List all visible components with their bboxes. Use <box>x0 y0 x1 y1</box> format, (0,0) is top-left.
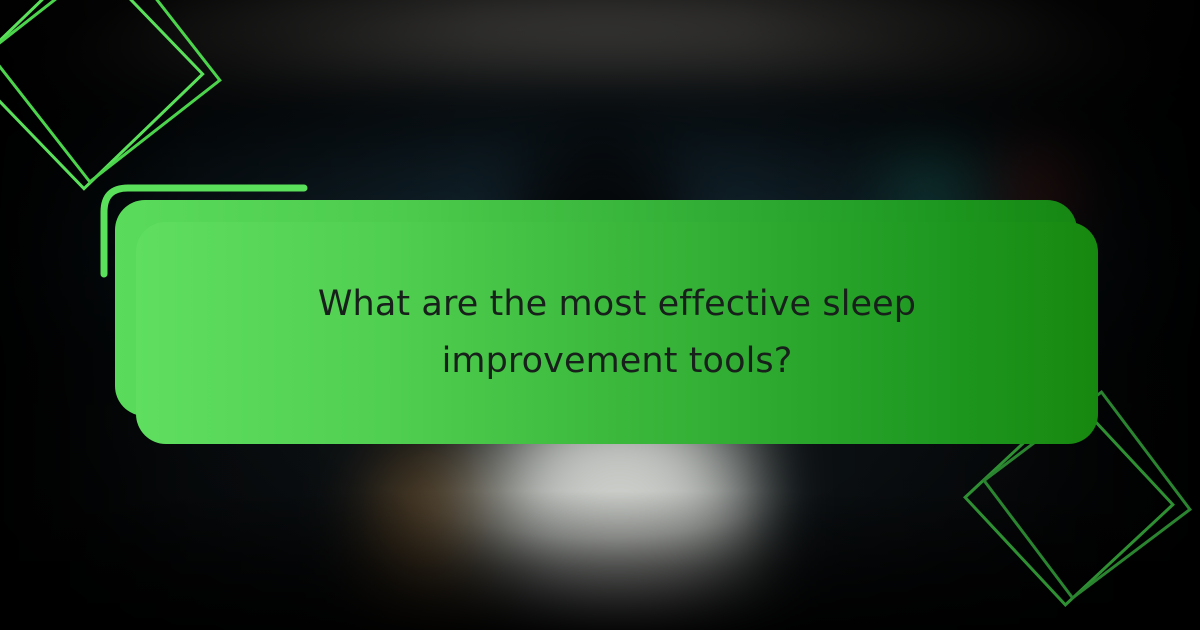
background-bottom-shade <box>0 491 1200 630</box>
slide-canvas: What are the most effective sleep improv… <box>0 0 1200 630</box>
question-title: What are the most effective sleep improv… <box>297 276 937 389</box>
question-card[interactable]: What are the most effective sleep improv… <box>136 222 1098 444</box>
